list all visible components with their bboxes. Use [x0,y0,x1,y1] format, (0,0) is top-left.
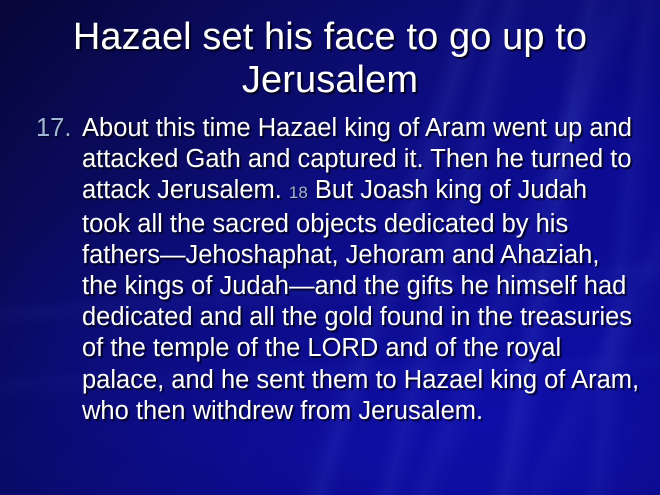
paragraph-number-marker: 17. [36,113,71,144]
slide-body: 17. About this time Hazael king of Aram … [30,113,640,427]
verse-number: 18 [289,183,308,202]
slide-content: Hazael set his face to go up to Jerusale… [0,0,660,495]
paragraph-rich-text: About this time Hazael king of Aram went… [82,114,639,425]
numbered-paragraph: 17. About this time Hazael king of Aram … [30,113,640,427]
slide-title: Hazael set his face to go up to Jerusale… [28,16,632,102]
presentation-slide: Hazael set his face to go up to Jerusale… [0,0,660,495]
